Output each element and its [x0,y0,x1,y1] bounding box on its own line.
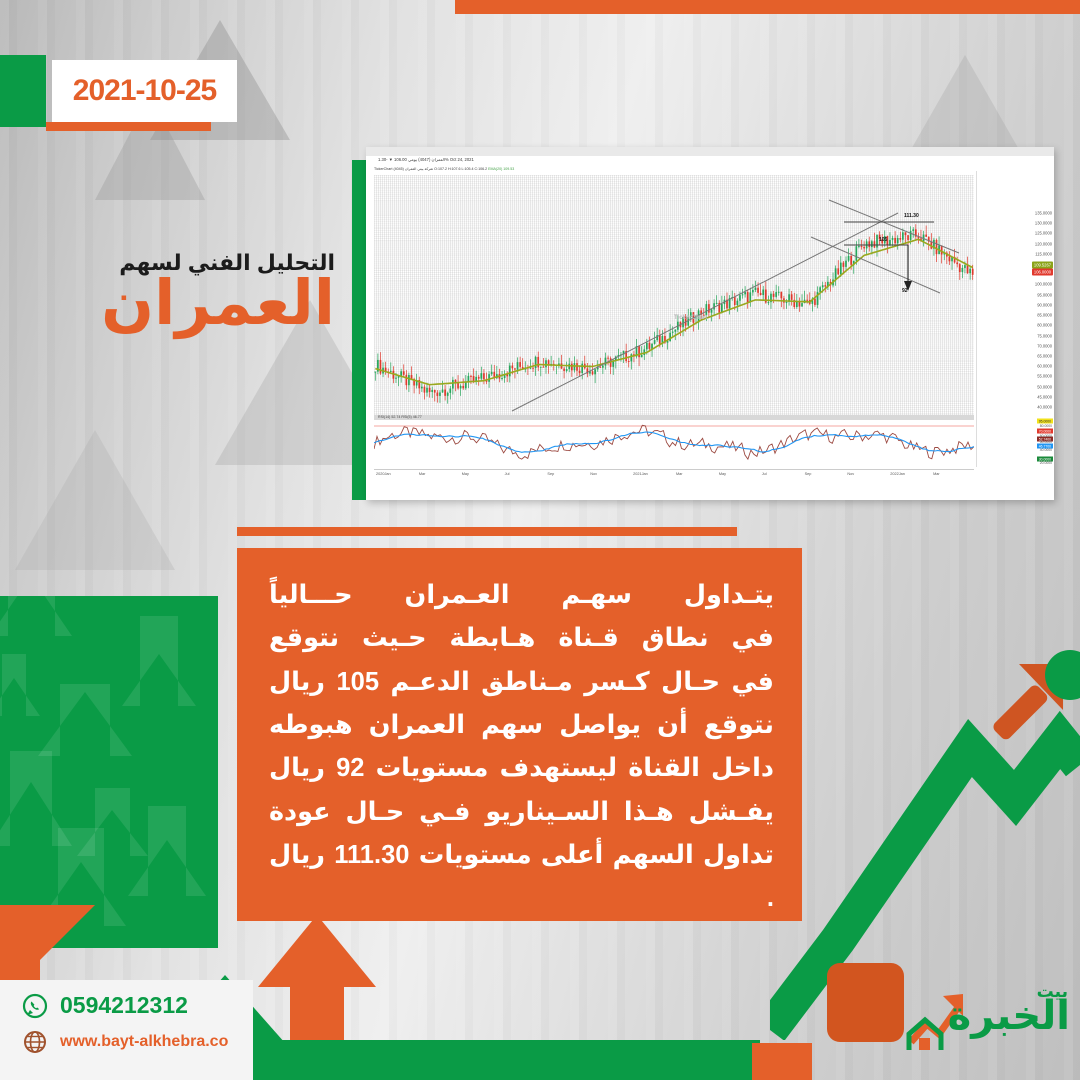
date-green-block [0,55,46,127]
price-tick-label: 50.0000 [1037,384,1052,389]
time-tick-label: Sep [805,472,812,476]
price-tick-label: 40.0000 [1037,404,1052,409]
chart-ema-text: EMA(20) 109.53 [488,167,514,171]
page-title: التحليل الفني لسهم العمران [0,252,335,335]
chart-ohlc-text: TickerChart شركة بيتي العمران (4045) O:1… [374,167,487,171]
annotation-target: 92 [902,288,908,294]
indicator-tick-label: 20.0000 [1040,461,1052,465]
time-tick-label: 2020Jan [376,472,391,476]
green-decoration-panel [0,596,218,948]
price-tick-label: 90.0000 [1037,302,1052,307]
analysis-line: نتوقع أن يواصل سهم العمران هبوطه [269,704,774,747]
indicator-badge: 70.0000 [1037,429,1053,434]
contact-website-row[interactable]: www.bayt-alkhebra.co [22,1029,228,1055]
time-tick-label: 2021Jan [633,472,648,476]
time-tick-label: 2022Jan [890,472,905,476]
arrow-pattern [0,596,218,948]
chart-watermark: TickerChart [674,315,707,321]
chart-ohlc-legend: TickerChart شركة بيتي العمران (4045) O:1… [374,167,514,171]
analysis-line: يتـداول سهـم العـمران حـــالياً [269,574,774,617]
time-tick-label: May [462,472,469,476]
price-tick-label: 75.0000 [1037,333,1052,338]
chart-screenshot-card: العمران (4047) يومي 106.00 ▼ -1.30% Oct … [366,147,1054,500]
time-tick-label: Mar [676,472,683,476]
indicator-plot-area: RSI(14) 52.74 RSI(5) 46.77 [374,419,974,465]
rsi-series [374,419,974,465]
price-tick-label: 55.0000 [1037,374,1052,379]
indicator-tick-label: 50.0000 [1040,440,1052,444]
price-tick-label: 130.0000 [1035,221,1052,226]
chart-green-edge [352,160,366,500]
time-tick-label: May [719,472,726,476]
website-url: www.bayt-alkhebra.co [60,1033,228,1051]
analysis-line: داخل القناة ليستهدف مستويات 92 ريال [269,747,774,790]
contact-phone-row[interactable]: 0594212312 [22,992,188,1019]
analysis-text-box: يتـداول سهـم العـمران حـــالياًفي نطاق ق… [237,548,802,921]
time-tick-label: Nov [590,472,597,476]
time-tick-label: Mar [419,472,426,476]
trendline-overlay [374,175,974,415]
indicator-axis[interactable]: 95.000070.000052.740046.770030.000080.00… [976,415,1054,467]
chart-toolbar [366,147,1054,156]
date-text: 2021-10-25 [73,74,216,108]
price-badge: 106.0000 [1032,269,1053,276]
price-tick-label: 95.0000 [1037,292,1052,297]
indicator-tick-label: 80.0000 [1040,424,1052,428]
analysis-line: في نطاق قـناة هـابطة حـيث نتوقع [269,617,774,660]
time-tick-label: Sep [547,472,554,476]
analysis-line: تداول السهم أعلى مستويات 111.30 ريال . [269,834,774,921]
price-tick-label: 120.0000 [1035,241,1052,246]
time-tick-label: Jul [762,472,767,476]
body-divider [237,527,737,536]
background-triangle [15,430,175,570]
price-badge: 109.5267 [1032,262,1053,269]
price-axis[interactable]: 135.0000130.0000125.0000120.0000115.0000… [976,171,1054,417]
date-underline [46,122,211,131]
annotation-resistance: 111.30 [904,213,919,219]
price-tick-label: 60.0000 [1037,364,1052,369]
price-tick-label: 80.0000 [1037,323,1052,328]
analysis-text: يتـداول سهـم العـمران حـــالياًفي نطاق ق… [269,574,774,921]
page-title-text: العمران [0,272,335,335]
background-triangle [905,55,1025,160]
time-tick-label: Nov [847,472,854,476]
analysis-line: في حـال كـسر مـناطق الدعـم 105 ريال [269,661,774,704]
time-tick-label: Mar [933,472,940,476]
indicator-tick-label: 60.0000 [1040,434,1052,438]
price-plot-area: TickerChart 111.30 105 92 [374,175,974,415]
time-axis[interactable]: 2020JanMarMayJulSepNov2021JanMarMayJulSe… [374,469,974,479]
price-tick-label: 125.0000 [1035,231,1052,236]
price-tick-label: 70.0000 [1037,343,1052,348]
price-tick-label: 115.0000 [1035,251,1052,256]
indicator-badge: 95.0000 [1037,419,1053,424]
globe-icon [22,1029,48,1055]
price-tick-label: 45.0000 [1037,394,1052,399]
brand-logo[interactable]: بيت الخبرة [905,978,1070,1064]
bottom-orange-box [752,1043,812,1080]
price-tick-label: 100.0000 [1035,282,1052,287]
analysis-line: يفـشل هـذا السـيناريو فـي حـال عودة [269,791,774,834]
phone-number: 0594212312 [60,992,188,1019]
price-tick-label: 65.0000 [1037,353,1052,358]
date-badge: 2021-10-25 [52,60,237,122]
price-tick-label: 135.0000 [1035,211,1052,216]
price-tick-label: 85.0000 [1037,313,1052,318]
annotation-support: 105 [879,237,887,243]
chart-ticker-legend: العمران (4047) يومي 106.00 ▼ -1.30% Oct … [378,157,474,162]
logo-main-word: الخبرة [948,996,1070,1036]
time-tick-label: Jul [505,472,510,476]
logo-orange-square [827,963,904,1042]
top-accent-bar [455,0,1080,14]
indicator-tick-label: 40.0000 [1040,448,1052,452]
whatsapp-icon [22,993,48,1019]
